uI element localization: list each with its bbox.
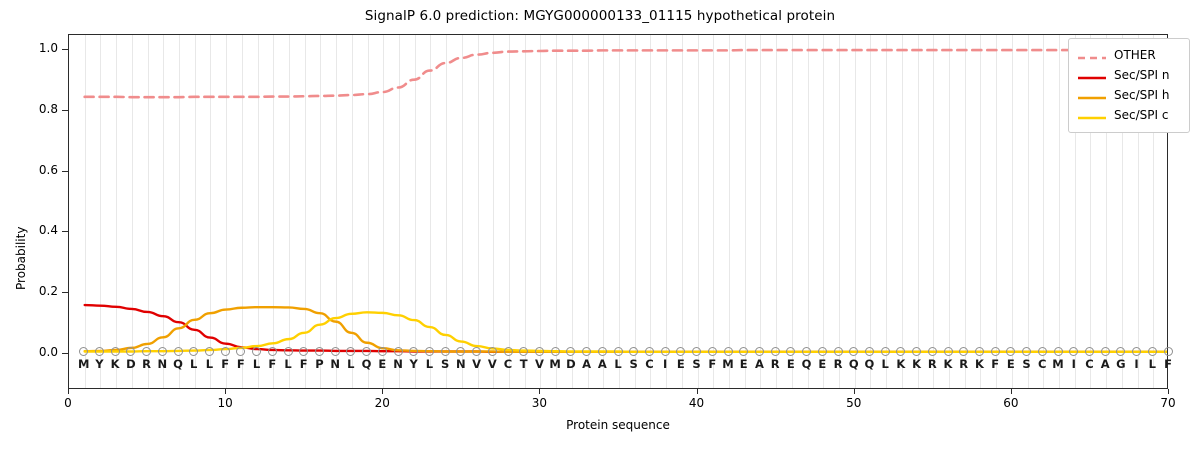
legend-item-sec-spi-c[interactable]: Sec/SPI c <box>1077 105 1181 125</box>
legend-swatch <box>1077 69 1107 81</box>
legend-label: Sec/SPI n <box>1114 68 1169 82</box>
legend: OTHERSec/SPI nSec/SPI hSec/SPI c <box>1068 38 1190 133</box>
legend-swatch <box>1077 49 1107 61</box>
x-tick-label: 70 <box>1148 396 1188 410</box>
legend-item-sec-spi-h[interactable]: Sec/SPI h <box>1077 85 1181 105</box>
series-line-other <box>85 50 1167 97</box>
legend-swatch <box>1077 89 1107 101</box>
legend-swatch <box>1077 109 1107 121</box>
legend-item-other[interactable]: OTHER <box>1077 45 1181 65</box>
x-tick-label: 10 <box>205 396 245 410</box>
legend-label: OTHER <box>1114 48 1156 62</box>
series-line-sec-spi-c <box>85 312 1167 352</box>
x-tick-label: 50 <box>834 396 874 410</box>
x-tick-label: 40 <box>677 396 717 410</box>
x-tick-mark <box>697 389 698 394</box>
x-tick-label: 20 <box>362 396 402 410</box>
signalp-prediction-figure: SignalP 6.0 prediction: MGYG000000133_01… <box>0 0 1200 450</box>
legend-label: Sec/SPI h <box>1114 88 1169 102</box>
x-tick-mark <box>1168 389 1169 394</box>
y-tick-label: 0.0 <box>0 345 58 359</box>
y-tick-label: 0.2 <box>0 284 58 298</box>
x-axis-label: Protein sequence <box>68 418 1168 432</box>
x-tick-mark <box>225 389 226 394</box>
x-tick-mark <box>854 389 855 394</box>
series-line-sec-spi-h <box>85 307 1167 352</box>
y-tick-label: 0.6 <box>0 163 58 177</box>
y-tick-label: 1.0 <box>0 41 58 55</box>
series-line-sec-spi-n <box>85 305 1167 352</box>
y-tick-label: 0.8 <box>0 102 58 116</box>
y-tick-label: 0.4 <box>0 223 58 237</box>
x-tick-label: 0 <box>48 396 88 410</box>
x-tick-label: 30 <box>519 396 559 410</box>
x-tick-mark <box>1011 389 1012 394</box>
x-tick-mark <box>68 389 69 394</box>
legend-item-sec-spi-n[interactable]: Sec/SPI n <box>1077 65 1181 85</box>
legend-label: Sec/SPI c <box>1114 108 1168 122</box>
curves <box>69 35 1167 388</box>
page-title: SignalP 6.0 prediction: MGYG000000133_01… <box>0 8 1200 24</box>
plot-area <box>68 34 1168 389</box>
x-tick-mark <box>382 389 383 394</box>
x-tick-label: 60 <box>991 396 1031 410</box>
x-tick-mark <box>539 389 540 394</box>
